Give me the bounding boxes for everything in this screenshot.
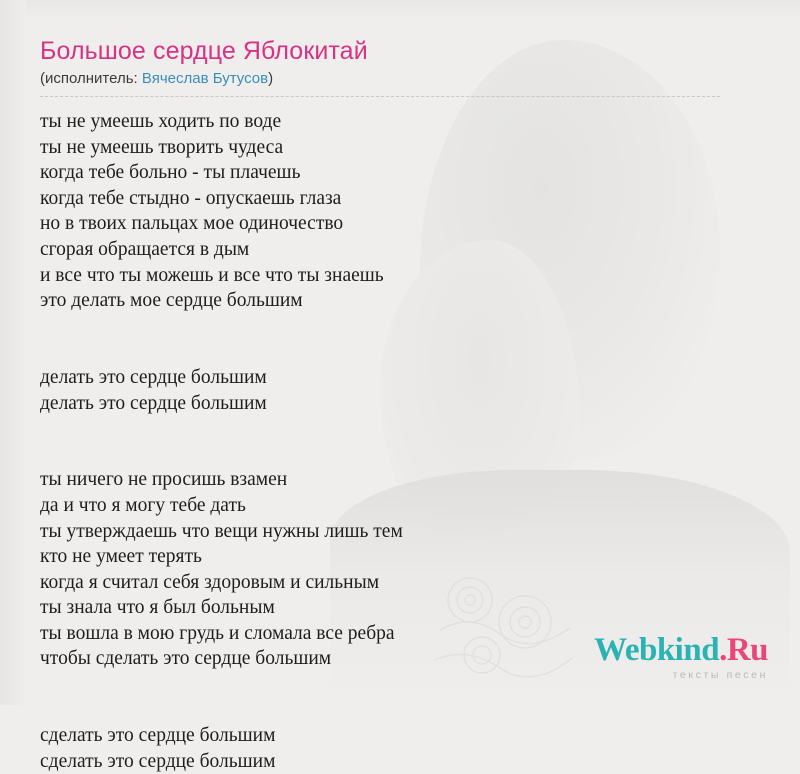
lyrics-blank-line <box>40 442 760 468</box>
lyrics-line: делать это сердце большим <box>40 391 760 417</box>
lyrics-line: ты не умеешь творить чудеса <box>40 135 760 161</box>
lyrics-blank-line <box>40 698 760 724</box>
lyrics-line: делать это сердце большим <box>40 365 760 391</box>
lyrics-line: сделать это сердце большим <box>40 749 760 774</box>
lyrics-line: это делать мое сердце большим <box>40 288 760 314</box>
lyrics-line: ты знала что я был больным <box>40 595 760 621</box>
lyrics-line: ты ничего не просишь взамен <box>40 467 760 493</box>
performer-suffix: ) <box>268 70 273 87</box>
lyrics-blank-line <box>40 416 760 442</box>
lyrics-line: когда тебе больно - ты плачешь <box>40 160 760 186</box>
watermark-brand-main: Webkind <box>594 632 719 668</box>
lyrics-line: да и что я могу тебе дать <box>40 493 760 519</box>
lyrics-line: сделать это сердце большим <box>40 723 760 749</box>
lyrics-page: Большое сердце Яблокитай (исполнитель: В… <box>0 0 800 705</box>
lyrics-blank-line <box>40 339 760 365</box>
lyrics-blank-line <box>40 314 760 340</box>
lyrics-line: когда тебе стыдно - опускаешь глаза <box>40 186 760 212</box>
watermark-brand-tld: .Ru <box>719 632 768 668</box>
performer-prefix: (исполнитель: <box>40 70 142 87</box>
lyrics-line: сгорая обращается в дым <box>40 237 760 263</box>
performer-link[interactable]: Вячеслав Бутусов <box>142 70 268 87</box>
lyrics-line: и все что ты можешь и все что ты знаешь <box>40 263 760 289</box>
lyrics-line: когда я считал себя здоровым и сильным <box>40 570 760 596</box>
lyrics-line: ты утверждаешь что вещи нужны лишь тем <box>40 519 760 545</box>
site-watermark: Webkind.Ru тексты песен <box>594 634 768 681</box>
watermark-brand: Webkind.Ru <box>594 634 768 667</box>
lyrics-line: ты не умеешь ходить по воде <box>40 109 760 135</box>
page-title: Большое сердце Яблокитай <box>40 36 760 66</box>
lyrics-line: но в твоих пальцах мое одиночество <box>40 211 760 237</box>
lyrics-line: кто не умеет терять <box>40 544 760 570</box>
watermark-tagline: тексты песен <box>594 669 768 681</box>
performer-line: (исполнитель: Вячеслав Бутусов) <box>40 70 720 97</box>
